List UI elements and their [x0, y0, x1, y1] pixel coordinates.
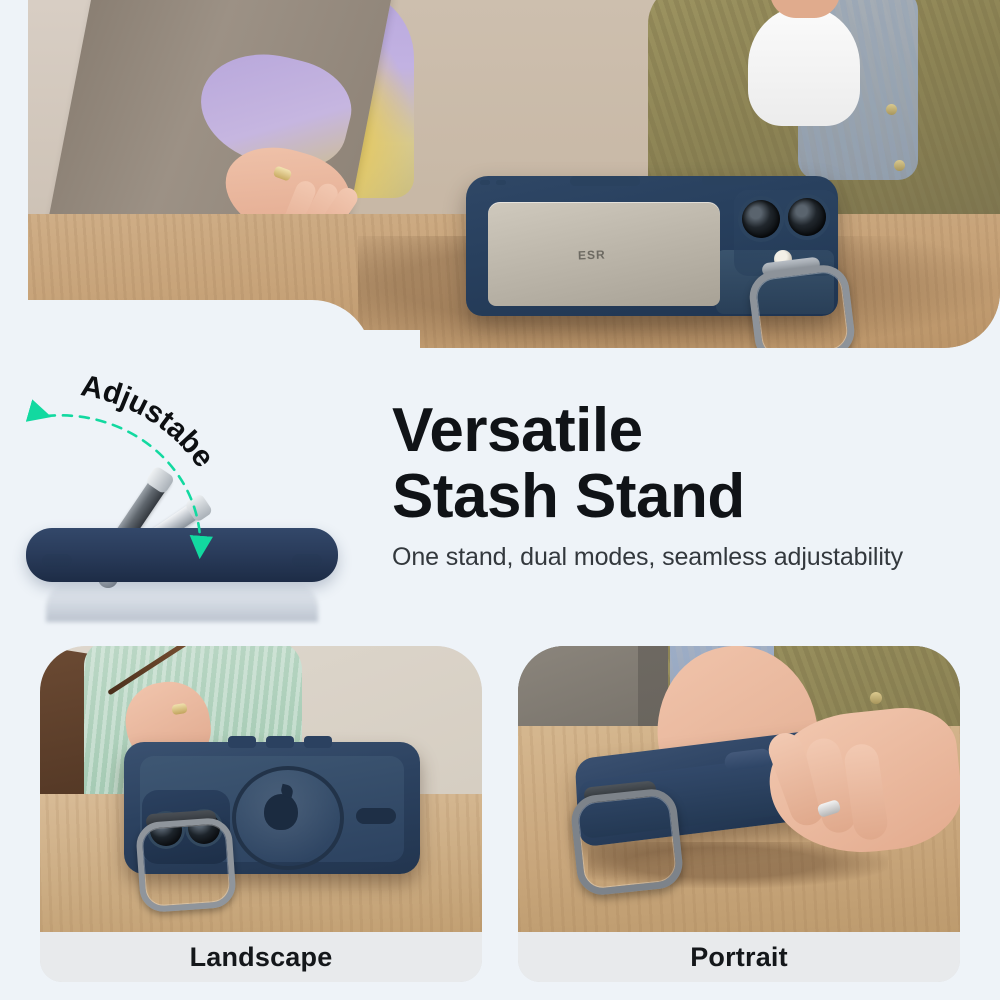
headline-block: Versatile Stash Stand One stand, dual mo… [392, 398, 992, 572]
side-button [228, 736, 256, 748]
mode-panels: Landscape [0, 646, 1000, 1000]
portrait-caption: Portrait [518, 932, 960, 982]
phone-case-hero: ESR [466, 176, 838, 316]
camera-lens [742, 200, 780, 238]
adjustable-label-text: Adjustabe [78, 369, 220, 473]
white-tshirt [748, 6, 860, 126]
portrait-caption-text: Portrait [690, 942, 788, 973]
ring-stand [569, 787, 685, 898]
mic-hole [480, 180, 490, 185]
portrait-mode-panel: Portrait [518, 646, 960, 982]
headline-line-1: Versatile [392, 396, 643, 465]
adjustable-label: Adjustabe [18, 376, 378, 606]
phone-case-landscape [124, 742, 420, 874]
ring-stand [135, 817, 237, 913]
ring-stand [747, 262, 857, 348]
stand-product-illustration: Adjustabe [18, 376, 358, 606]
subtitle: One stand, dual modes, seamless adjustab… [392, 543, 992, 572]
cardigan-button [870, 692, 882, 704]
headline-line-2: Stash Stand [392, 462, 745, 531]
cardigan-button [894, 160, 905, 171]
landscape-mode-panel: Landscape [40, 646, 482, 982]
top-button [702, 176, 762, 185]
hero-scene: ESR [28, 0, 1000, 348]
headline: Versatile Stash Stand [392, 398, 992, 529]
hero-lifestyle-photo: ESR [28, 0, 1000, 348]
speaker-cutout [356, 808, 396, 824]
portrait-photo [518, 646, 960, 932]
mic-hole [496, 180, 506, 185]
side-button [266, 736, 294, 748]
product-feature-page: ESR [0, 0, 1000, 1000]
landscape-caption-text: Landscape [190, 942, 333, 973]
side-button [304, 736, 332, 748]
esr-brand-logo: ESR [578, 248, 606, 263]
apple-logo [264, 794, 298, 830]
landscape-photo [40, 646, 482, 932]
cardigan-button [886, 104, 897, 115]
top-button [570, 176, 640, 186]
feature-section: Adjustabe Versatile Stash Stand One stan… [0, 348, 1000, 640]
camera-lens [788, 198, 826, 236]
landscape-caption: Landscape [40, 932, 482, 982]
